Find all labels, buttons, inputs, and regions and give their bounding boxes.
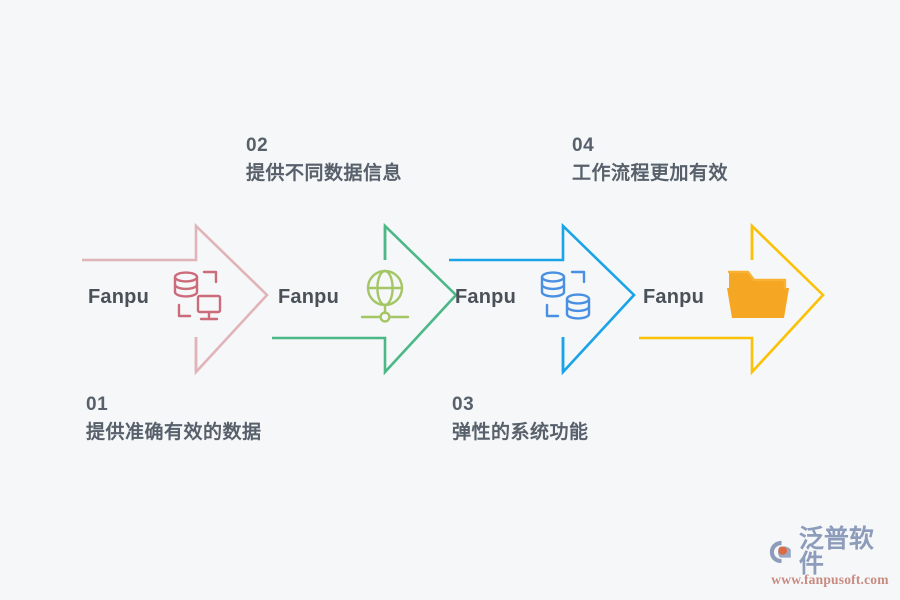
fanpu-label-step-2: Fanpu: [278, 286, 339, 309]
fanpu-label-step-4: Fanpu: [643, 286, 704, 309]
watermark-brand-text: 泛普软件: [799, 527, 892, 577]
caption-step-4: 04 工作流程更加有效: [572, 136, 728, 183]
globe-network-icon: [362, 271, 408, 321]
step-text-1: 提供准确有效的数据: [86, 423, 262, 442]
step-number-2: 02: [246, 136, 402, 155]
step-text-3: 弹性的系统功能: [452, 423, 589, 442]
step-number-3: 03: [452, 395, 589, 414]
infographic-canvas: Fanpu Fanpu Fanpu Fanpu 01 提供准确有效的数据 02 …: [0, 0, 900, 600]
step-number-1: 01: [86, 395, 262, 414]
step-number-4: 04: [572, 136, 728, 155]
step-text-4: 工作流程更加有效: [572, 164, 728, 183]
fanpu-label-step-1: Fanpu: [88, 286, 149, 309]
caption-step-1: 01 提供准确有效的数据: [86, 395, 262, 442]
double-database-icon: [542, 272, 589, 318]
fanpu-label-step-3: Fanpu: [455, 286, 516, 309]
open-folder-icon: [727, 272, 789, 318]
fanpu-logo-icon: [768, 537, 796, 567]
watermark-url: www.fanpusoft.com: [768, 572, 892, 588]
caption-step-3: 03 弹性的系统功能: [452, 395, 589, 442]
caption-step-2: 02 提供不同数据信息: [246, 136, 402, 183]
step-text-2: 提供不同数据信息: [246, 164, 402, 183]
watermark-brand-row: 泛普软件: [768, 534, 892, 570]
database-monitor-icon: [175, 272, 220, 319]
watermark: 泛普软件 www.fanpusoft.com: [768, 534, 892, 592]
